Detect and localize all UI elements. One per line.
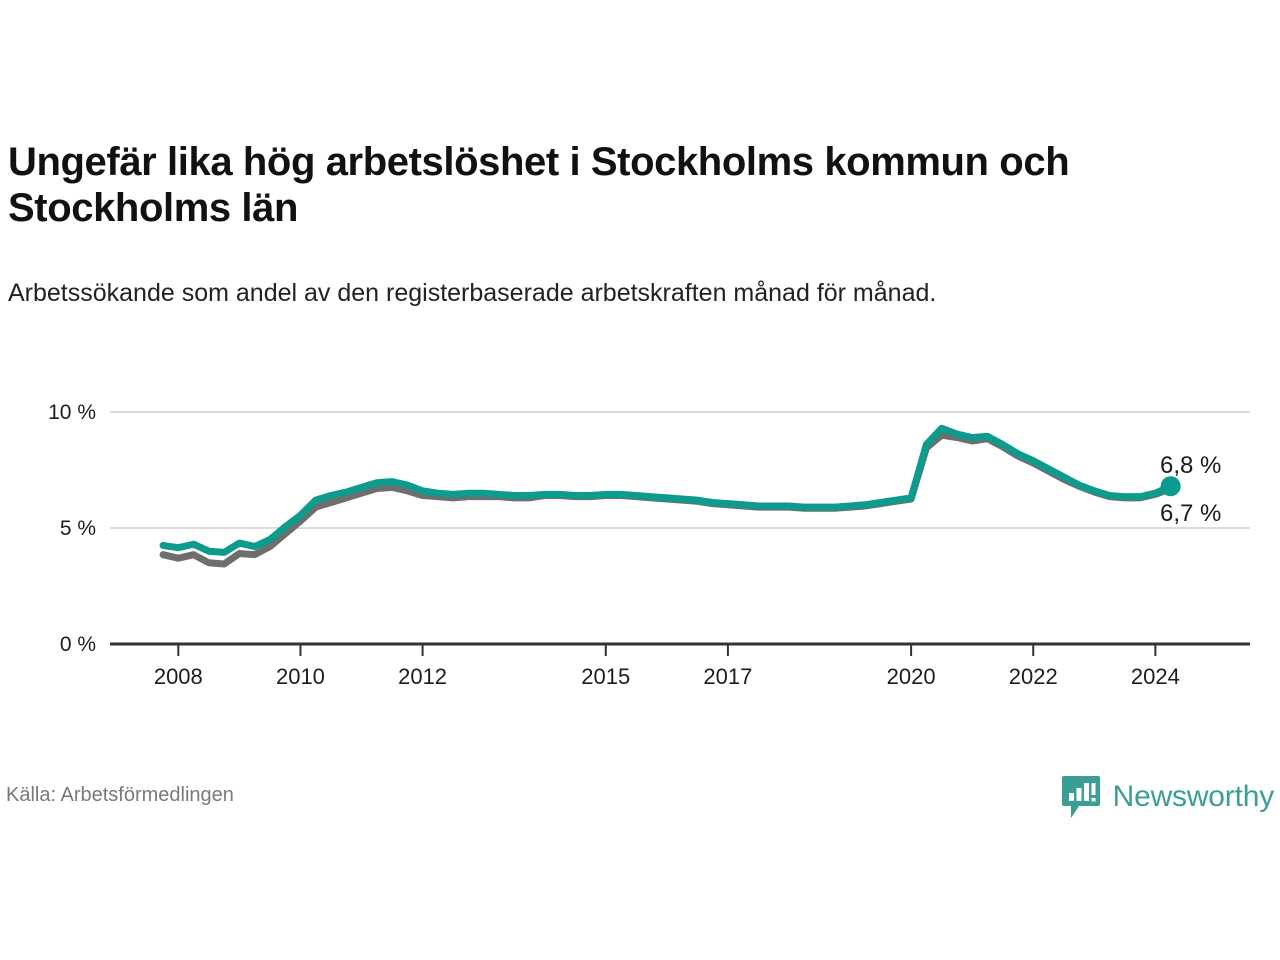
svg-text:2022: 2022 — [1009, 664, 1058, 689]
y-axis-labels: 0 %5 %10 % — [48, 401, 96, 656]
end-point-marker — [1161, 476, 1181, 496]
svg-text:2017: 2017 — [703, 664, 752, 689]
line-chart: 0 %5 %10 % 20082010201220152017202020222… — [0, 380, 1280, 710]
brand-name: Newsworthy — [1113, 780, 1274, 814]
end-value-stockholms-kommun: 6,8 % — [1160, 452, 1221, 479]
newsworthy-logo[interactable]: Newsworthy — [1061, 774, 1274, 820]
page-title: Ungefär lika hög arbetslöshet i Stockhol… — [8, 140, 1268, 231]
end-value-stockholms-lan: 6,7 % — [1160, 500, 1221, 527]
gridlines — [110, 412, 1250, 528]
svg-text:2012: 2012 — [398, 664, 447, 689]
svg-text:2020: 2020 — [887, 664, 936, 689]
source-text: Källa: Arbetsförmedlingen — [6, 784, 234, 807]
chart-container: 0 %5 %10 % 20082010201220152017202020222… — [0, 380, 1280, 710]
svg-text:10 %: 10 % — [48, 401, 96, 424]
x-axis-labels: 20082010201220152017202020222024 — [154, 664, 1180, 689]
svg-text:2024: 2024 — [1131, 664, 1180, 689]
chart-page: Ungefär lika hög arbetslöshet i Stockhol… — [0, 0, 1280, 960]
chart-footer: Källa: Arbetsförmedlingen Newsworthy — [0, 770, 1280, 830]
svg-text:2015: 2015 — [581, 664, 630, 689]
series-lines — [163, 428, 1171, 564]
axis-ticks — [178, 644, 1155, 656]
svg-text:2008: 2008 — [154, 664, 203, 689]
svg-text:0 %: 0 % — [60, 633, 96, 656]
svg-text:5 %: 5 % — [60, 517, 96, 540]
svg-text:2010: 2010 — [276, 664, 325, 689]
page-subtitle: Arbetssökande som andel av den registerb… — [8, 278, 1198, 309]
bar-chart-speech-bubble-icon — [1061, 774, 1101, 820]
